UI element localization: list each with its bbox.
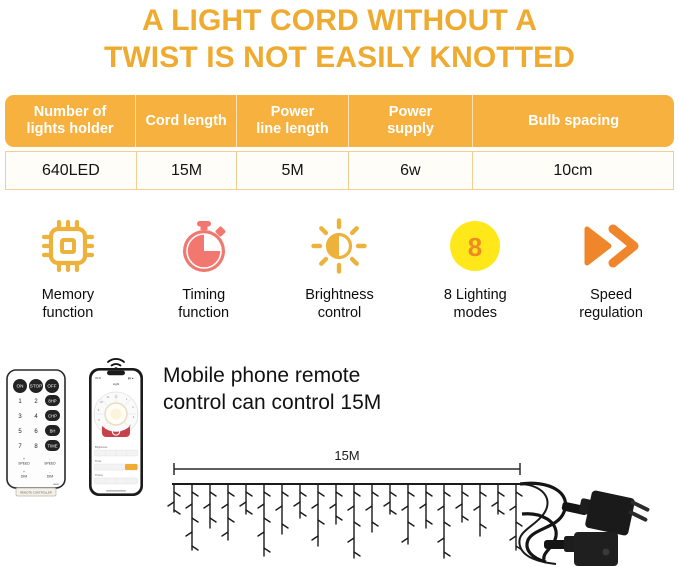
feature-brightness-control: Brightness control [272,210,408,335]
brightness-sun-icon [309,210,369,282]
mobile-remote-text-line-2: control can control 15M [163,389,493,416]
svg-text:TIME: TIME [47,443,57,448]
memory-chip-icon [38,210,98,282]
spec-value-lights-holder: 640LED [6,152,137,189]
page-title-line-2: TWIST IS NOT EASILY KNOTTED [0,39,679,76]
svg-text:SPEED: SPEED [18,462,30,466]
spec-table: Number of lights holder Cord length Powe… [5,95,674,190]
feature-label-lighting-modes: 8 Lighting modes [444,286,507,322]
page-title-line-1: A LIGHT CORD WITHOUT A [0,2,679,39]
svg-text:-: - [49,457,50,461]
spec-value-power-supply: 6w [349,152,473,189]
feature-label-timing-function: Timing function [178,286,229,322]
svg-text:+: + [23,470,25,474]
svg-text:SPEED: SPEED [44,462,56,466]
svg-text:DIM: DIM [21,475,27,479]
eight-modes-icon: 8 [446,210,504,282]
curtain-string-light-icon: 15M [160,440,560,567]
svg-text:10: 10 [99,400,103,404]
svg-text:-: - [49,470,50,474]
adapter-upper [561,490,648,536]
spec-value-bulb-spacing: 10cm [473,152,673,189]
feature-label-speed-regulation: Speed regulation [579,286,643,322]
wifi-signal-icon [108,359,124,366]
svg-text:Light: Light [113,382,120,386]
lighting-modes-count: 8 [468,232,482,262]
mobile-remote-text-line-1: Mobile phone remote [163,362,493,389]
mobile-remote-text: Mobile phone remote control can control … [163,362,493,416]
svg-text:09:41: 09:41 [95,376,102,380]
svg-text:Brightness: Brightness [95,445,108,449]
spec-header-lights-holder: Number of lights holder [5,95,136,147]
smartphone-icon: 09:41▮▮ ▰ Light 1212 345 678 91011 [80,352,152,500]
svg-text:DIM: DIM [47,475,53,479]
svg-text:BH: BH [50,428,56,433]
spec-table-header-row: Number of lights holder Cord length Powe… [5,95,674,147]
spec-header-bulb-spacing: Bulb spacing [473,95,674,147]
svg-text:Timer: Timer [95,459,102,463]
svg-text:REMOTE CONTROLLER: REMOTE CONTROLLER [20,490,52,494]
feature-memory-function: Memory function [0,210,136,335]
feature-timing-function: Timing function [136,210,272,335]
feature-speed-regulation: Speed regulation [543,210,679,335]
length-label: 15M [334,448,359,463]
svg-text:ON: ON [17,384,24,389]
spec-value-power-line-length: 5M [237,152,348,189]
remote-control-icon: ONSTOPOFF 12 34 56 78 8HPCHP BHTIME [4,368,70,498]
spec-table-value-row: 640LED 15M 5M 6w 10cm [5,151,674,190]
spec-value-cord-length: 15M [137,152,238,189]
spec-header-cord-length: Cord length [136,95,237,147]
stopwatch-icon [174,210,234,282]
product-infographic: A LIGHT CORD WITHOUT A TWIST IS NOT EASI… [0,0,679,567]
svg-text:STOP: STOP [30,384,42,389]
svg-text:11: 11 [107,395,110,399]
spec-header-power-line-length: Power line length [237,95,349,147]
page-title: A LIGHT CORD WITHOUT A TWIST IS NOT EASI… [0,2,679,76]
feature-label-brightness-control: Brightness control [305,286,374,322]
svg-text:CHP: CHP [48,413,57,418]
feature-list: Memory function Timing function [0,210,679,335]
spec-header-power-supply: Power supply [349,95,473,147]
svg-text:12: 12 [114,395,118,399]
svg-text:+: + [23,457,25,461]
svg-text:Timing: Timing [95,473,103,477]
fast-forward-icon [578,210,644,282]
svg-text:ooo: ooo [53,482,58,486]
feature-label-memory-function: Memory function [42,286,94,322]
svg-text:8HP: 8HP [48,398,56,403]
feature-lighting-modes: 8 8 Lighting modes [407,210,543,335]
svg-text:OFF: OFF [47,384,56,389]
power-adapter-icon [520,478,679,567]
